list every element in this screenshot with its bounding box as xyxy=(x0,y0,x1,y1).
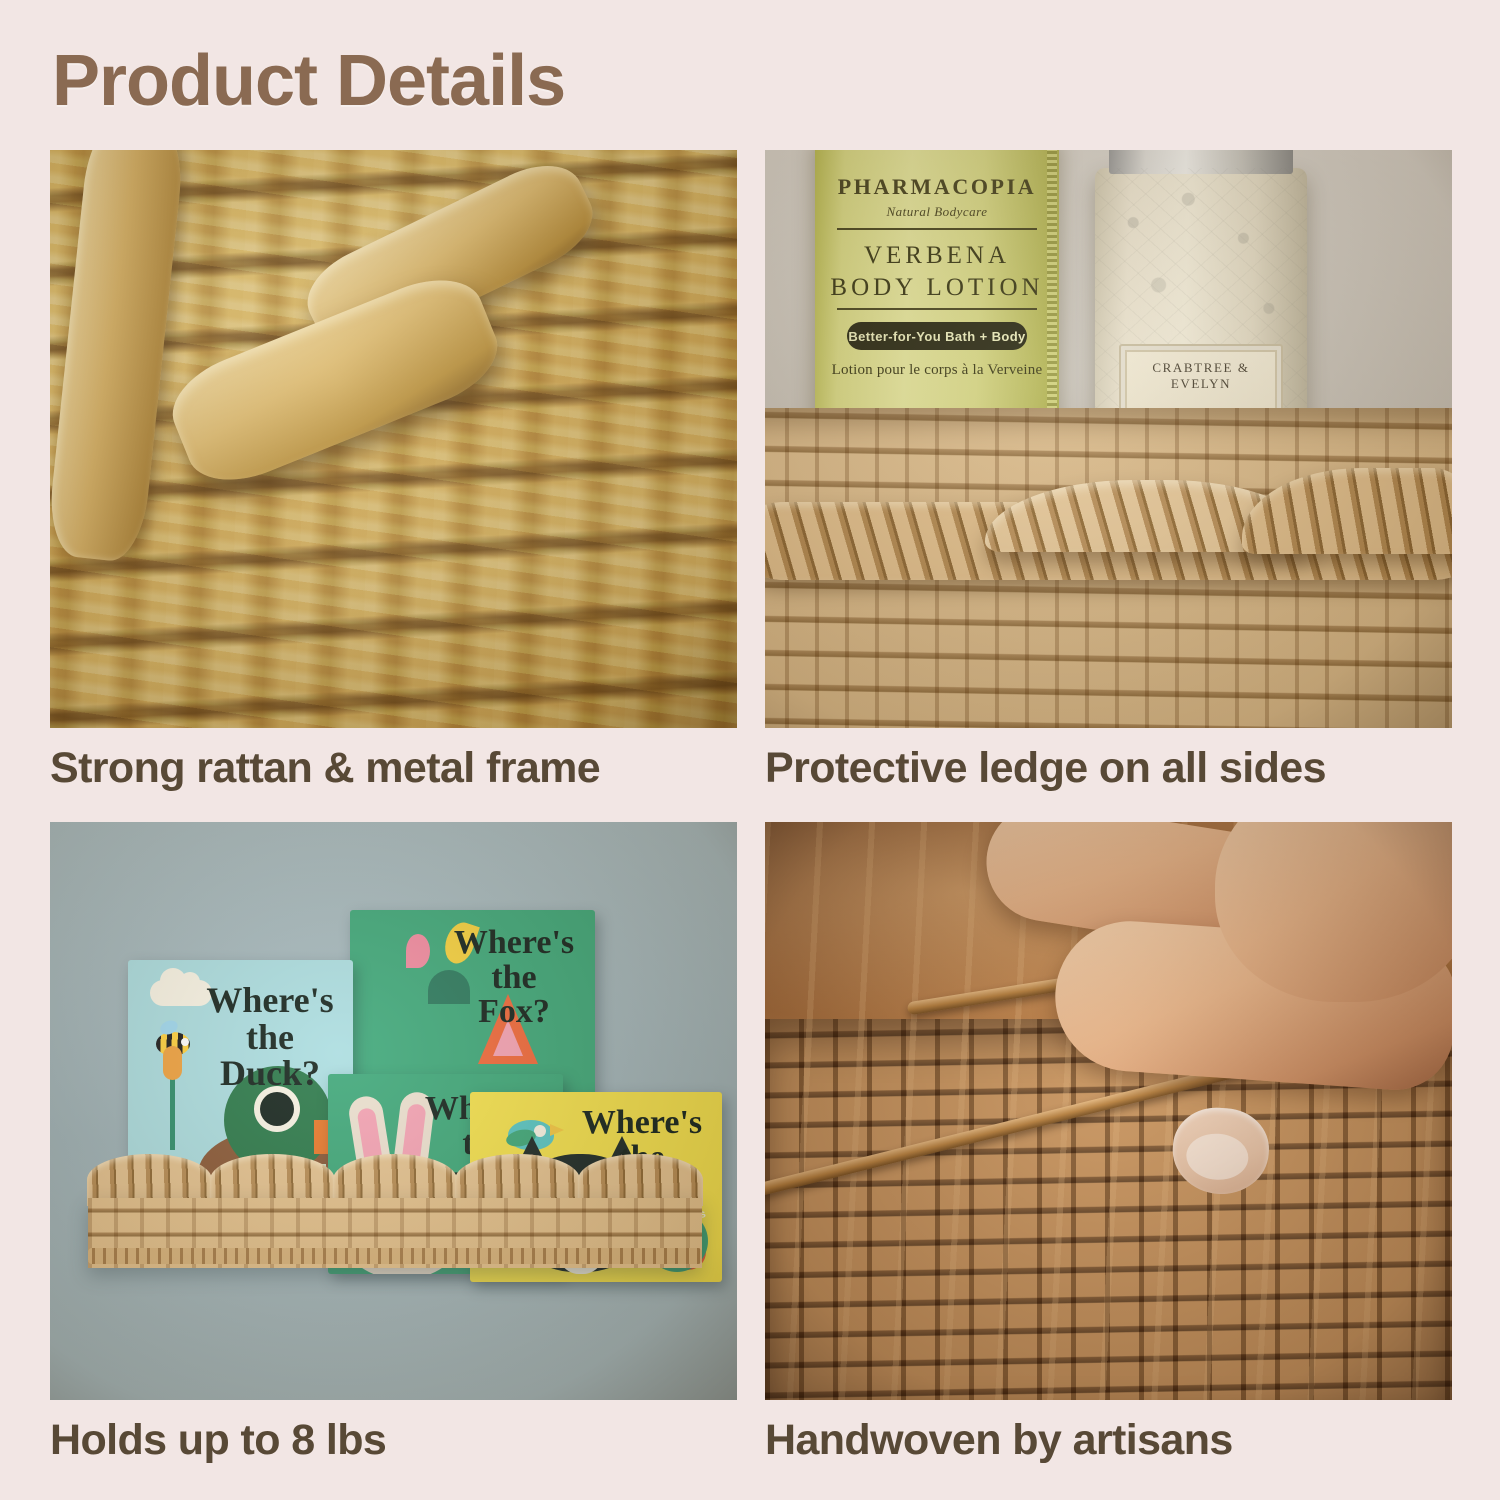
feature-cell-handwoven: Handwoven by artisans xyxy=(765,822,1452,1465)
photo-rattan-weave-macro xyxy=(50,150,737,728)
caption-rattan-frame: Strong rattan & metal frame xyxy=(50,744,737,793)
caption-weight-capacity: Holds up to 8 lbs xyxy=(50,1416,737,1465)
photo-vignette xyxy=(50,822,737,1400)
feature-cell-protective-ledge: PHARMACOPIA Natural Bodycare VERBENA BOD… xyxy=(765,150,1452,793)
photo-vignette xyxy=(765,150,1452,728)
photo-hand-weaving xyxy=(765,822,1452,1400)
photo-vignette xyxy=(50,150,737,728)
caption-protective-ledge: Protective ledge on all sides xyxy=(765,744,1452,793)
feature-cell-weight-capacity: Where's the Fox? Where's the Duck? xyxy=(50,822,737,1465)
photo-shelf-with-books: Where's the Fox? Where's the Duck? xyxy=(50,822,737,1400)
photo-basket-with-bottles: PHARMACOPIA Natural Bodycare VERBENA BOD… xyxy=(765,150,1452,728)
product-details-page: Product Details Strong rattan & metal fr… xyxy=(0,0,1500,1500)
feature-cell-rattan-frame: Strong rattan & metal frame xyxy=(50,150,737,793)
feature-grid: Strong rattan & metal frame PHARMACOPIA … xyxy=(0,0,1500,1500)
photo-vignette xyxy=(765,822,1452,1400)
caption-handwoven: Handwoven by artisans xyxy=(765,1416,1452,1465)
